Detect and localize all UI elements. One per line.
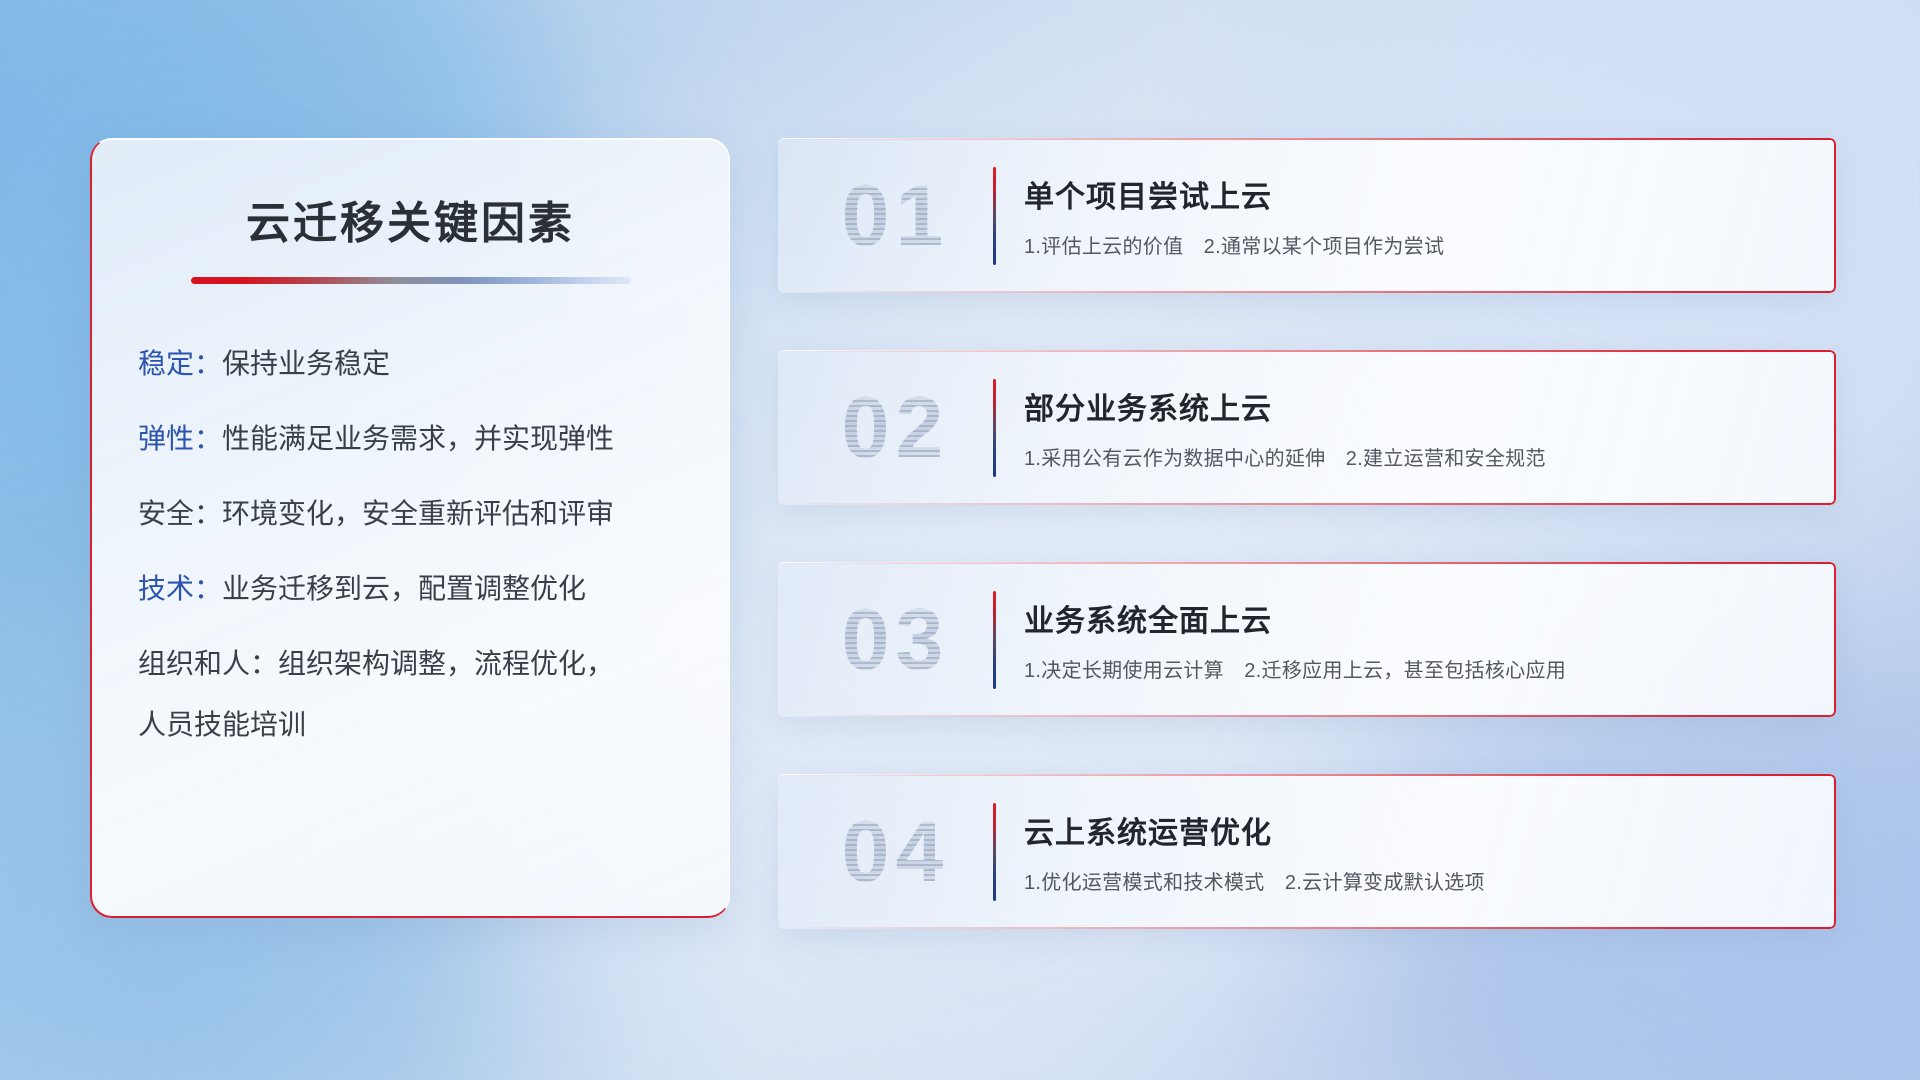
key-factors-panel: 云迁移关键因素 稳定： 保持业务稳定 弹性： 性能满足业务需求，并实现弹性 安全…	[90, 138, 730, 918]
factor-label: 组织和人：	[138, 646, 278, 681]
factor-text: 性能满足业务需求，并实现弹性	[222, 421, 614, 456]
factor-text: 环境变化，安全重新评估和评审	[222, 496, 614, 531]
stage-card-body: 单个项目尝试上云 1.评估上云的价值 2.通常以某个项目作为尝试	[996, 172, 1444, 259]
stage-number: 01	[778, 173, 993, 259]
list-item: 组织和人： 组织架构调整，流程优化，	[138, 646, 729, 681]
list-item: 弹性： 性能满足业务需求，并实现弹性	[138, 421, 729, 456]
stage-card-01[interactable]: 01 单个项目尝试上云 1.评估上云的价值 2.通常以某个项目作为尝试	[778, 138, 1836, 293]
factor-text: 保持业务稳定	[222, 346, 390, 381]
list-item: 稳定： 保持业务稳定	[138, 346, 729, 381]
title-underline-rule	[191, 277, 631, 284]
stage-description: 1.采用公有云作为数据中心的延伸 2.建立运营和安全规范	[1024, 442, 1546, 471]
stage-card-body: 部分业务系统上云 1.采用公有云作为数据中心的延伸 2.建立运营和安全规范	[996, 384, 1546, 471]
factor-label: 安全：	[138, 496, 222, 531]
stage-title: 单个项目尝试上云	[1024, 172, 1444, 216]
factor-label: 稳定：	[138, 346, 222, 381]
stage-card-02[interactable]: 02 部分业务系统上云 1.采用公有云作为数据中心的延伸 2.建立运营和安全规范	[778, 350, 1836, 505]
stage-card-body: 业务系统全面上云 1.决定长期使用云计算 2.迁移应用上云，甚至包括核心应用	[996, 596, 1566, 683]
factor-label: 技术：	[138, 571, 222, 606]
stage-number: 04	[778, 809, 993, 895]
stage-description: 1.决定长期使用云计算 2.迁移应用上云，甚至包括核心应用	[1024, 654, 1566, 683]
slide-stage: 云迁移关键因素 稳定： 保持业务稳定 弹性： 性能满足业务需求，并实现弹性 安全…	[0, 0, 1920, 1080]
list-item: 技术： 业务迁移到云，配置调整优化	[138, 571, 729, 606]
stage-card-body: 云上系统运营优化 1.优化运营模式和技术模式 2.云计算变成默认选项	[996, 808, 1485, 895]
factor-text: 业务迁移到云，配置调整优化	[222, 571, 586, 606]
stage-title: 部分业务系统上云	[1024, 384, 1546, 428]
stage-card-03[interactable]: 03 业务系统全面上云 1.决定长期使用云计算 2.迁移应用上云，甚至包括核心应…	[778, 562, 1836, 717]
stage-description: 1.评估上云的价值 2.通常以某个项目作为尝试	[1024, 230, 1444, 259]
stage-description: 1.优化运营模式和技术模式 2.云计算变成默认选项	[1024, 866, 1485, 895]
factor-text-continuation: 人员技能培训	[138, 703, 729, 743]
factors-list: 稳定： 保持业务稳定 弹性： 性能满足业务需求，并实现弹性 安全： 环境变化，安…	[138, 346, 729, 743]
stage-card-04[interactable]: 04 云上系统运营优化 1.优化运营模式和技术模式 2.云计算变成默认选项	[778, 774, 1836, 929]
migration-stage-cards: 01 单个项目尝试上云 1.评估上云的价值 2.通常以某个项目作为尝试 02 部…	[778, 138, 1836, 929]
factor-label: 弹性：	[138, 421, 222, 456]
list-item: 安全： 环境变化，安全重新评估和评审	[138, 496, 729, 531]
stage-title: 业务系统全面上云	[1024, 596, 1566, 640]
stage-number: 03	[778, 597, 993, 683]
page-title: 云迁移关键因素	[92, 187, 729, 251]
stage-number: 02	[778, 385, 993, 471]
stage-title: 云上系统运营优化	[1024, 808, 1485, 852]
factor-text: 组织架构调整，流程优化，	[278, 646, 614, 681]
